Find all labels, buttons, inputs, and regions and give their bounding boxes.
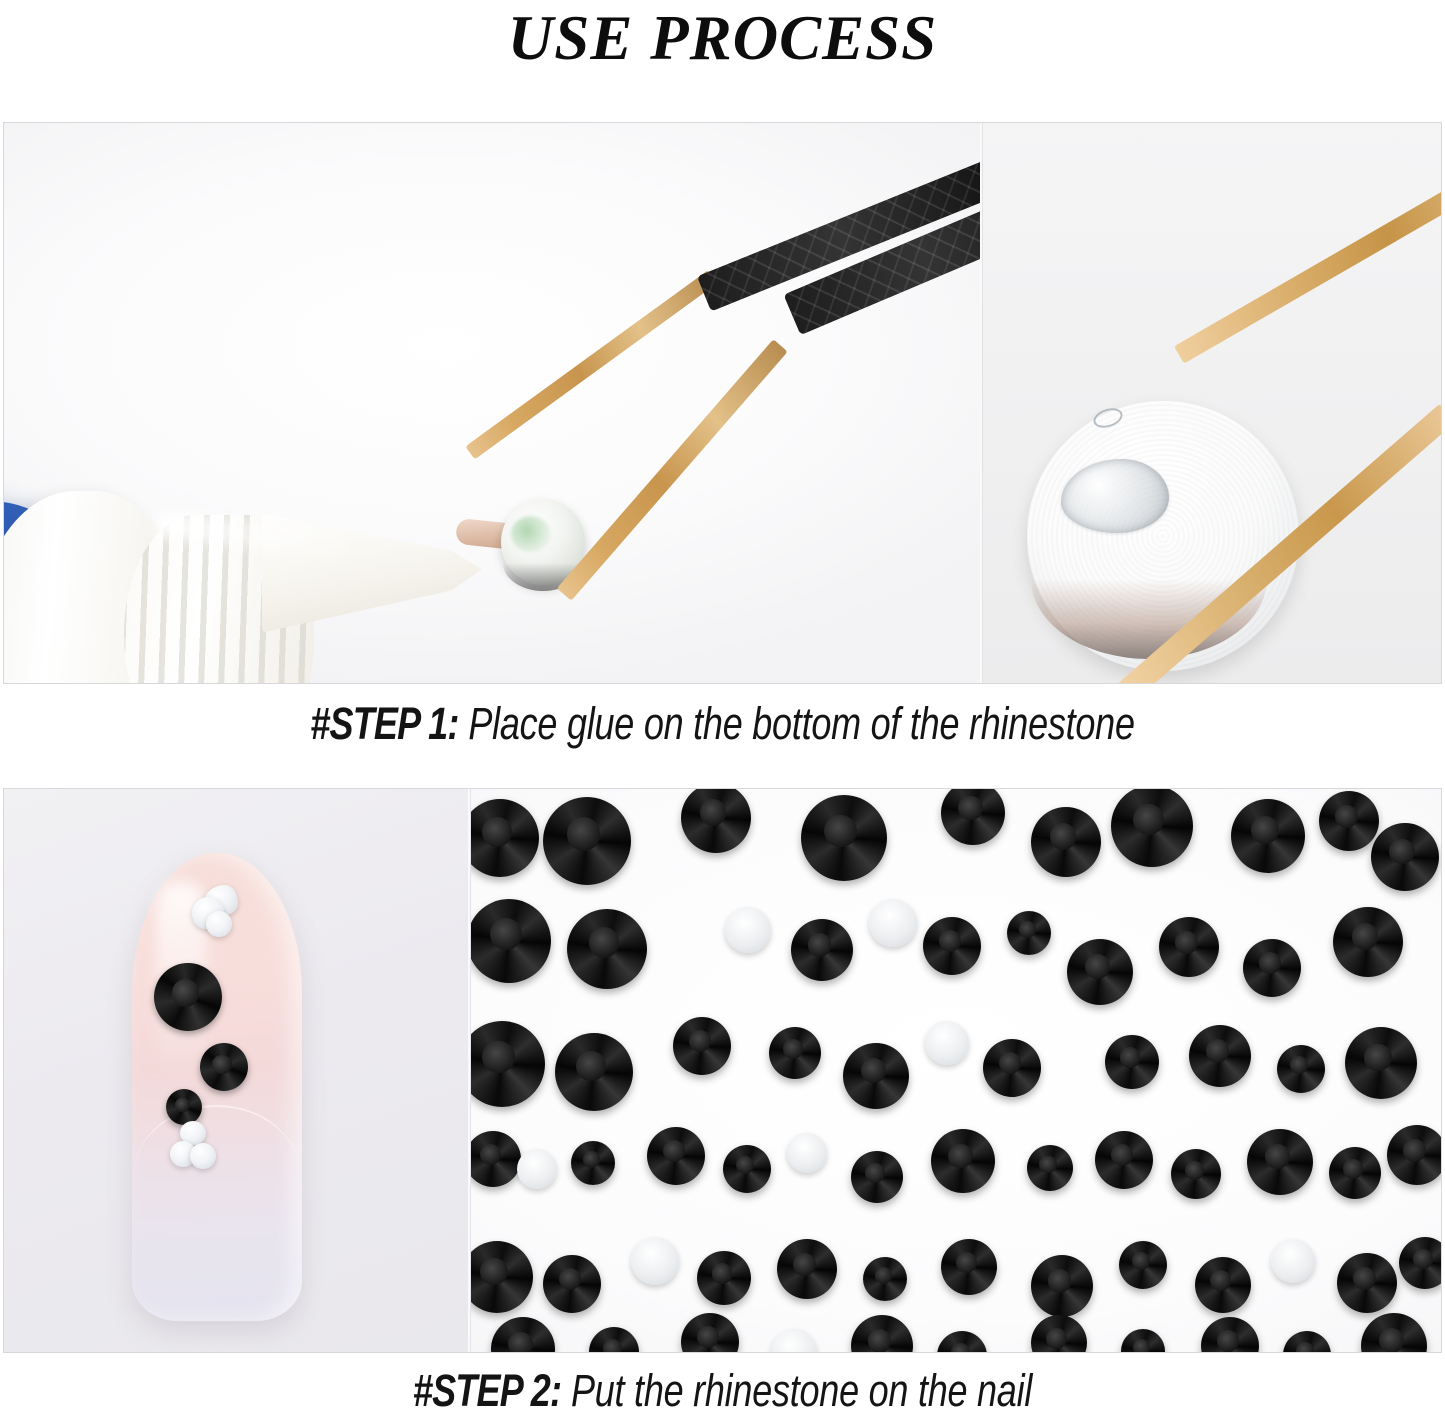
rhinestone (555, 1033, 633, 1111)
rhinestone (1371, 823, 1439, 891)
glue-blob (1061, 459, 1169, 533)
nail-rhinestone-medium (200, 1043, 248, 1091)
rhinestone (1333, 907, 1403, 977)
rhinestone (1171, 1149, 1221, 1199)
rhinestone (1387, 1125, 1442, 1185)
step-1-text: Place glue on the bottom of the rhinesto… (459, 698, 1135, 749)
rhinestone (925, 1021, 969, 1065)
rhinestone (769, 1027, 821, 1079)
step-1-label: #STEP 1: (310, 698, 458, 749)
glue-bottle-and-tweezers-photo (4, 123, 980, 683)
nail-smile-line (134, 1105, 300, 1175)
rhinestone (869, 899, 917, 947)
rhinestone (843, 1043, 909, 1109)
step-1-photo-row (3, 122, 1442, 684)
rhinestone (1195, 1257, 1251, 1313)
nail-rhinestone-large (154, 963, 222, 1031)
rhinestone (697, 1251, 751, 1305)
rhinestone (1271, 1239, 1315, 1283)
rhinestone (725, 907, 771, 953)
rhinestone (1231, 799, 1305, 873)
rhinestone (791, 919, 853, 981)
rhinestone (1277, 1045, 1325, 1093)
rhinestone (571, 1141, 615, 1185)
use-process-infographic: USE PROCESS (0, 0, 1445, 1412)
step-1-caption: #STEP 1: Place glue on the bottom of the… (145, 698, 1301, 750)
nail-rhinestone-small (166, 1089, 202, 1125)
step-2-text: Put the rhinestone on the nail (561, 1365, 1032, 1412)
rhinestone (673, 1017, 731, 1075)
rhinestones-and-nail-photo (470, 789, 1442, 1352)
rhinestone (941, 1239, 997, 1295)
rhinestone (1031, 807, 1101, 877)
rhinestone (1119, 1241, 1167, 1289)
rhinestone (631, 1237, 679, 1285)
rhinestone (851, 1151, 903, 1203)
rhinestone (1027, 1145, 1073, 1191)
rhinestone (543, 1255, 601, 1313)
rhinestone (1031, 1255, 1093, 1317)
step-2-caption: #STEP 2: Put the rhinestone on the nail (145, 1365, 1301, 1412)
rhinestone (1345, 1027, 1417, 1099)
butterfly-charm-wing-lower (206, 911, 232, 937)
rhinestone (543, 797, 631, 885)
rhinestone (567, 909, 647, 989)
rhinestone (1007, 911, 1051, 955)
rhinestone (1105, 1035, 1159, 1089)
rhinestone (1095, 1131, 1153, 1189)
rhinestone (931, 1129, 995, 1193)
step-2-photo-row (3, 788, 1442, 1353)
rhinestone (863, 1257, 907, 1301)
rhinestone (1189, 1025, 1251, 1087)
rhinestone-backside-closeup-photo (982, 123, 1442, 683)
rhinestone (923, 917, 981, 975)
rhinestone (1329, 1147, 1381, 1199)
rhinestone (1243, 939, 1301, 997)
rhinestone (1399, 1237, 1442, 1289)
rhinestone (1159, 917, 1219, 977)
flower-charm-petal-right (190, 1143, 216, 1169)
rhinestone (777, 1239, 837, 1299)
rhinestone (647, 1127, 705, 1185)
rhinestone (1319, 791, 1379, 851)
rhinestone (517, 1149, 557, 1189)
step-2-label: #STEP 2: (413, 1365, 561, 1412)
rhinestone (787, 1133, 827, 1173)
rhinestone (801, 795, 887, 881)
rhinestone (723, 1145, 771, 1193)
rhinestone (1337, 1253, 1397, 1313)
decorated-nail-photo (4, 789, 468, 1352)
rhinestone (1247, 1129, 1313, 1195)
page-title: USE PROCESS (0, 2, 1445, 74)
rhinestone (983, 1039, 1041, 1097)
rhinestone (470, 899, 551, 983)
rhinestone (1067, 939, 1133, 1005)
nail-tip (132, 853, 302, 1321)
